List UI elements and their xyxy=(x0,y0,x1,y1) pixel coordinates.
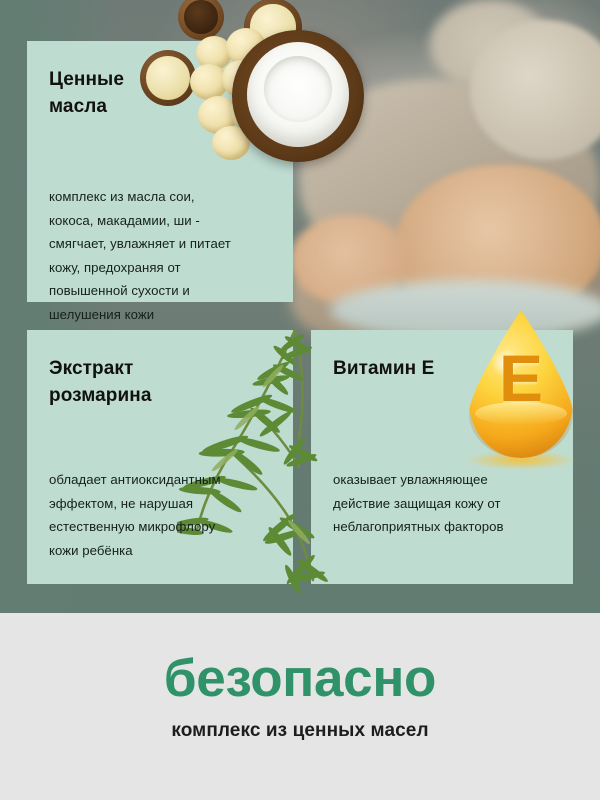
card-title-vitamin: Витамин Е xyxy=(333,356,434,383)
card-title-rosemary: Экстракт розмарина xyxy=(49,356,152,410)
card-title-oils: Ценные масла xyxy=(49,67,124,121)
footer-subline: комплекс из ценных масел xyxy=(0,720,600,742)
promo-page: Ценные масла комплекс из масла сои, коко… xyxy=(0,0,600,800)
card-body-rosemary: обладает антиоксидантным эффектом, не на… xyxy=(49,468,277,562)
footer-headline: безопасно xyxy=(0,648,600,709)
card-body-vitamin: оказывает увлажняющее действие защищая к… xyxy=(333,468,557,539)
hero-section: Ценные масла комплекс из масла сои, коко… xyxy=(0,0,600,613)
footer-section: безопасно комплекс из ценных масел xyxy=(0,613,600,800)
card-body-oils: комплекс из масла сои, кокоса, макадамии… xyxy=(49,185,277,326)
card-vitamin-e: Витамин Е оказывает увлажняющее действие… xyxy=(311,330,573,584)
card-valuable-oils: Ценные масла комплекс из масла сои, коко… xyxy=(27,41,293,302)
card-rosemary-extract: Экстракт розмарина обладает антиоксидант… xyxy=(27,330,293,584)
